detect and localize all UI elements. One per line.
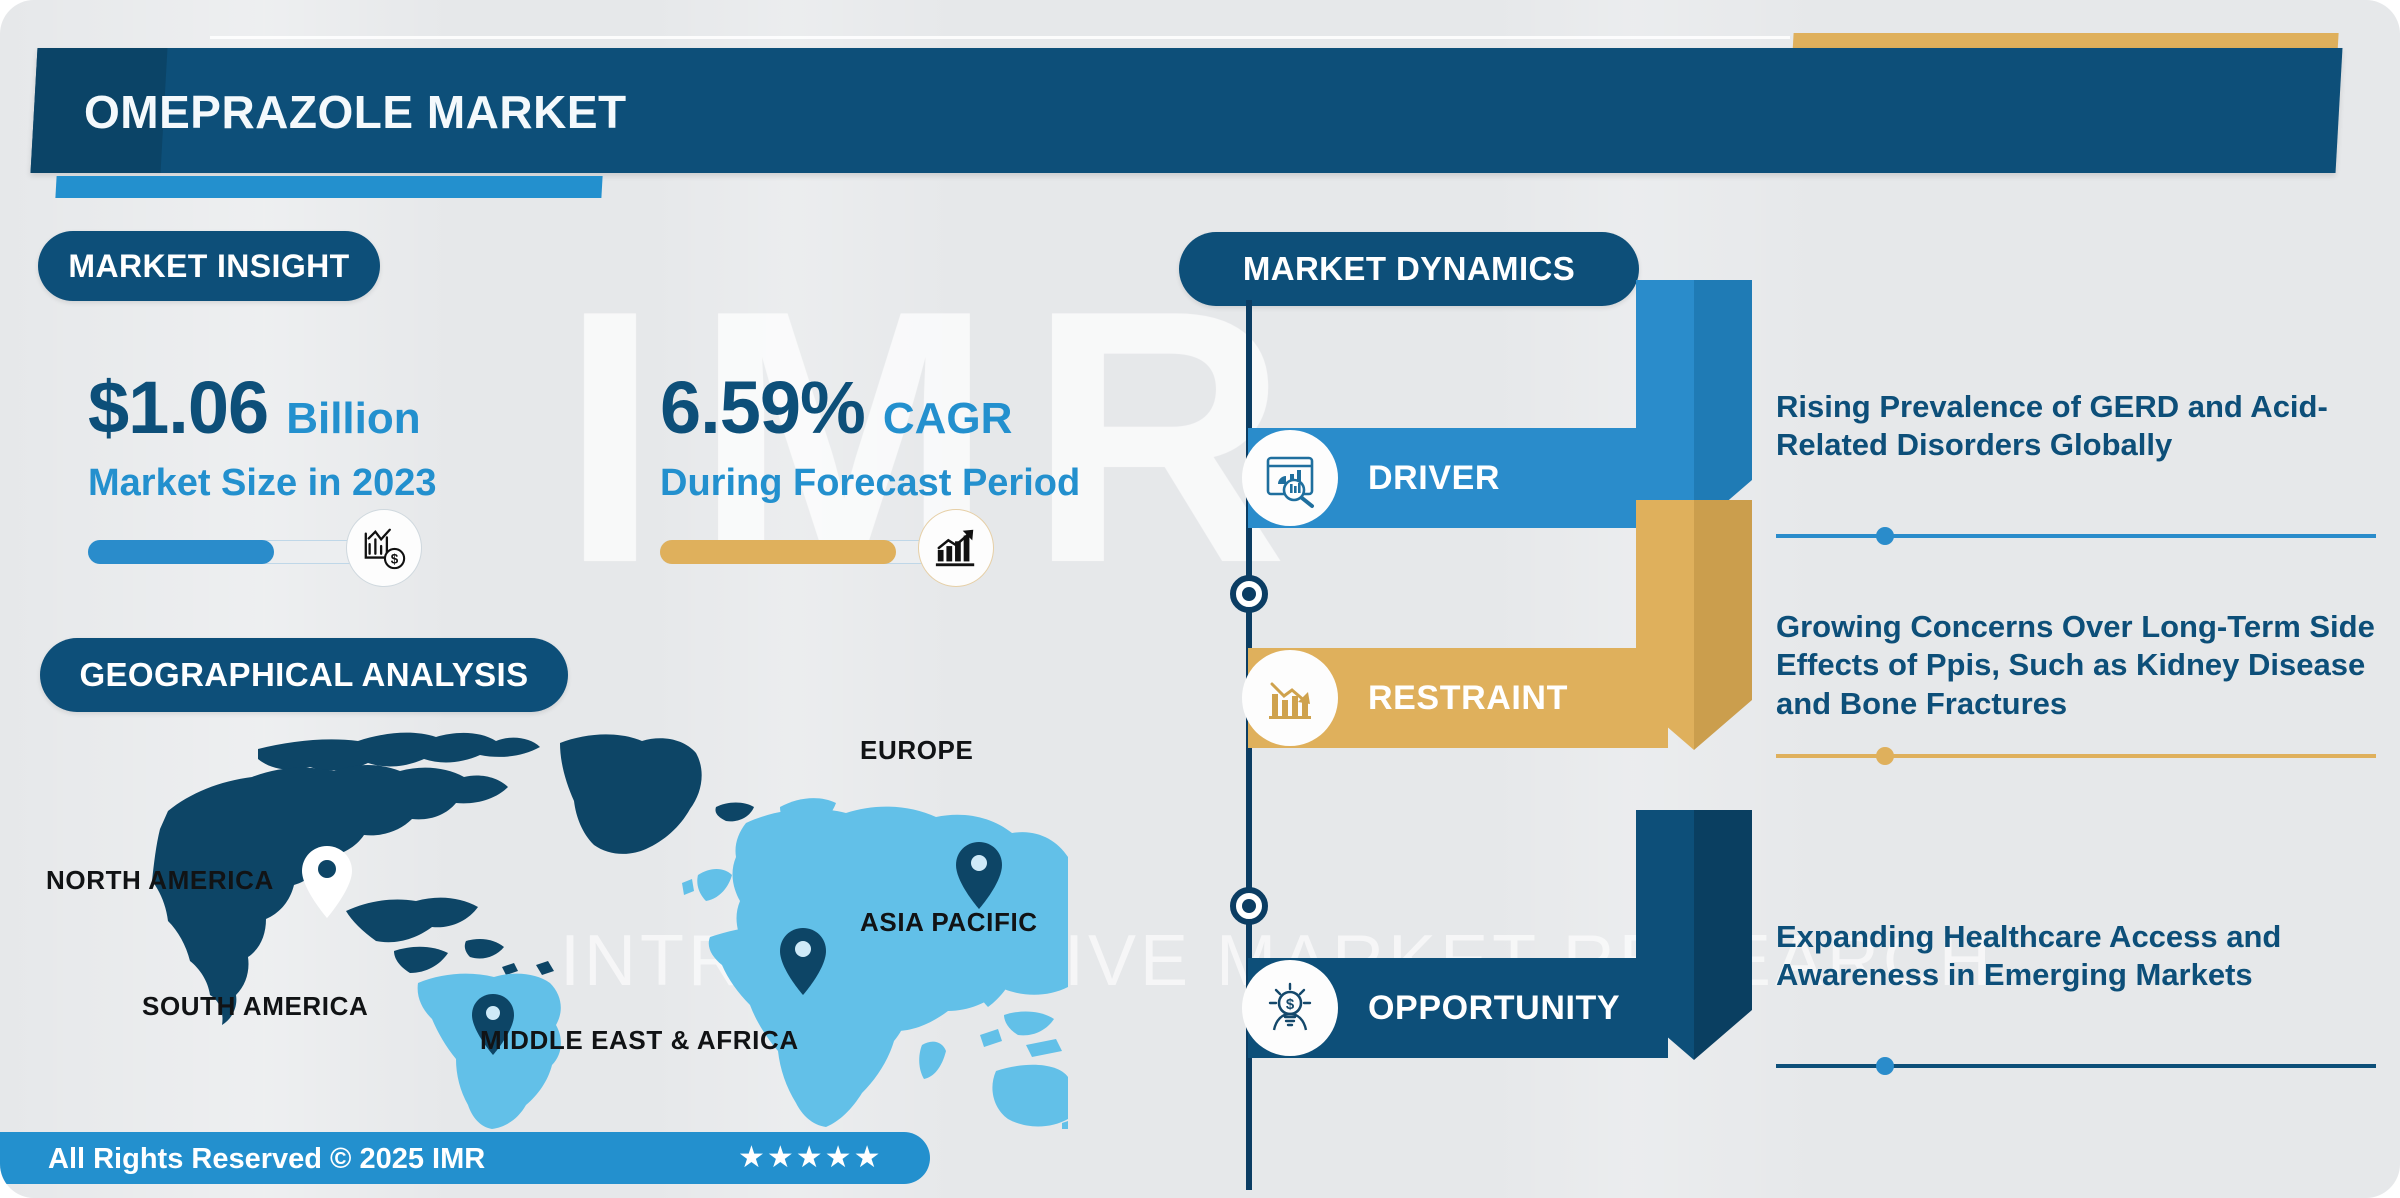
- lightbulb-dollar-icon: $: [1242, 960, 1338, 1056]
- map-label-south-america: SOUTH AMERICA: [142, 991, 368, 1022]
- svg-text:$: $: [1286, 996, 1295, 1013]
- dynamics-text: Expanding Healthcare Access and Awarenes…: [1776, 918, 2376, 995]
- stat-progress-bar: $: [88, 537, 433, 567]
- stat-market-size: $1.06 Billion Market Size in 2023 $: [88, 365, 437, 567]
- bar-chart-dollar-icon: $: [346, 509, 422, 587]
- map-label-north-america: NORTH AMERICA: [46, 865, 274, 896]
- footer-copyright: All Rights Reserved © 2025 IMR: [48, 1143, 485, 1176]
- ribbon-label: OPPORTUNITY: [1368, 989, 1620, 1028]
- chart-decline-icon: [1242, 650, 1338, 746]
- map-region-eurasia-africa: [682, 798, 1068, 1129]
- section-pill-geographical-analysis: GEOGRAPHICAL ANALYSIS: [40, 638, 568, 712]
- infographic-canvas: IMR INTROSPECTIVE MARKET RESEARCH OMEPRA…: [0, 0, 2400, 1198]
- map-label-asia-pacific: ASIA PACIFIC: [860, 907, 1038, 938]
- progress-fill: [660, 540, 896, 564]
- ribbon-label: RESTRAINT: [1368, 679, 1568, 718]
- stat-cagr: 6.59% CAGR During Forecast Period: [660, 365, 1080, 567]
- chart-search-icon: [1242, 430, 1338, 526]
- dynamics-dot: [1876, 747, 1894, 765]
- ribbon-label: DRIVER: [1368, 459, 1500, 498]
- map-label-europe: EUROPE: [860, 735, 973, 766]
- dynamics-rule: [1776, 1064, 2376, 1068]
- growth-arrow-icon: [918, 509, 994, 587]
- page-title: OMEPRAZOLE MARKET: [84, 85, 627, 139]
- dynamics-dot: [1876, 1057, 1894, 1075]
- dynamics-text: Rising Prevalence of GERD and Acid-Relat…: [1776, 388, 2376, 465]
- header-blue-underbar: [55, 176, 602, 198]
- section-pill-market-dynamics: MARKET DYNAMICS: [1179, 232, 1639, 306]
- dynamics-text: Growing Concerns Over Long-Term Side Eff…: [1776, 608, 2376, 723]
- dynamics-rule: [1776, 754, 2376, 758]
- stat-caption: Market Size in 2023: [88, 462, 437, 505]
- map-label-middle-east-africa: MIDDLE EAST & AFRICA: [480, 1025, 799, 1056]
- stat-unit: CAGR: [883, 394, 1013, 444]
- dynamics-rule: [1776, 534, 2376, 538]
- svg-text:$: $: [391, 551, 399, 566]
- progress-fill: [88, 540, 274, 564]
- dynamics-dot: [1876, 527, 1894, 545]
- map-pin-north-america: [302, 846, 352, 918]
- stat-caption: During Forecast Period: [660, 462, 1080, 505]
- dynamics-row-restraint: RESTRAINT Growing Concerns Over Long-Ter…: [1196, 570, 2376, 830]
- ribbon-restraint: RESTRAINT: [1248, 648, 1668, 748]
- section-pill-market-insight: MARKET INSIGHT: [38, 231, 380, 301]
- stat-value: $1.06: [88, 365, 268, 450]
- stat-progress-bar: [660, 537, 1005, 567]
- footer-star-rating: ★★★★★: [738, 1140, 882, 1175]
- stat-value: 6.59%: [660, 365, 865, 450]
- header-divider: [210, 36, 1790, 39]
- ribbon-driver: DRIVER: [1248, 428, 1668, 528]
- dynamics-row-opportunity: $ OPPORTUNITY Expanding Healthca: [1196, 880, 2376, 1140]
- stat-unit: Billion: [286, 394, 420, 444]
- ribbon-opportunity: $ OPPORTUNITY: [1248, 958, 1668, 1058]
